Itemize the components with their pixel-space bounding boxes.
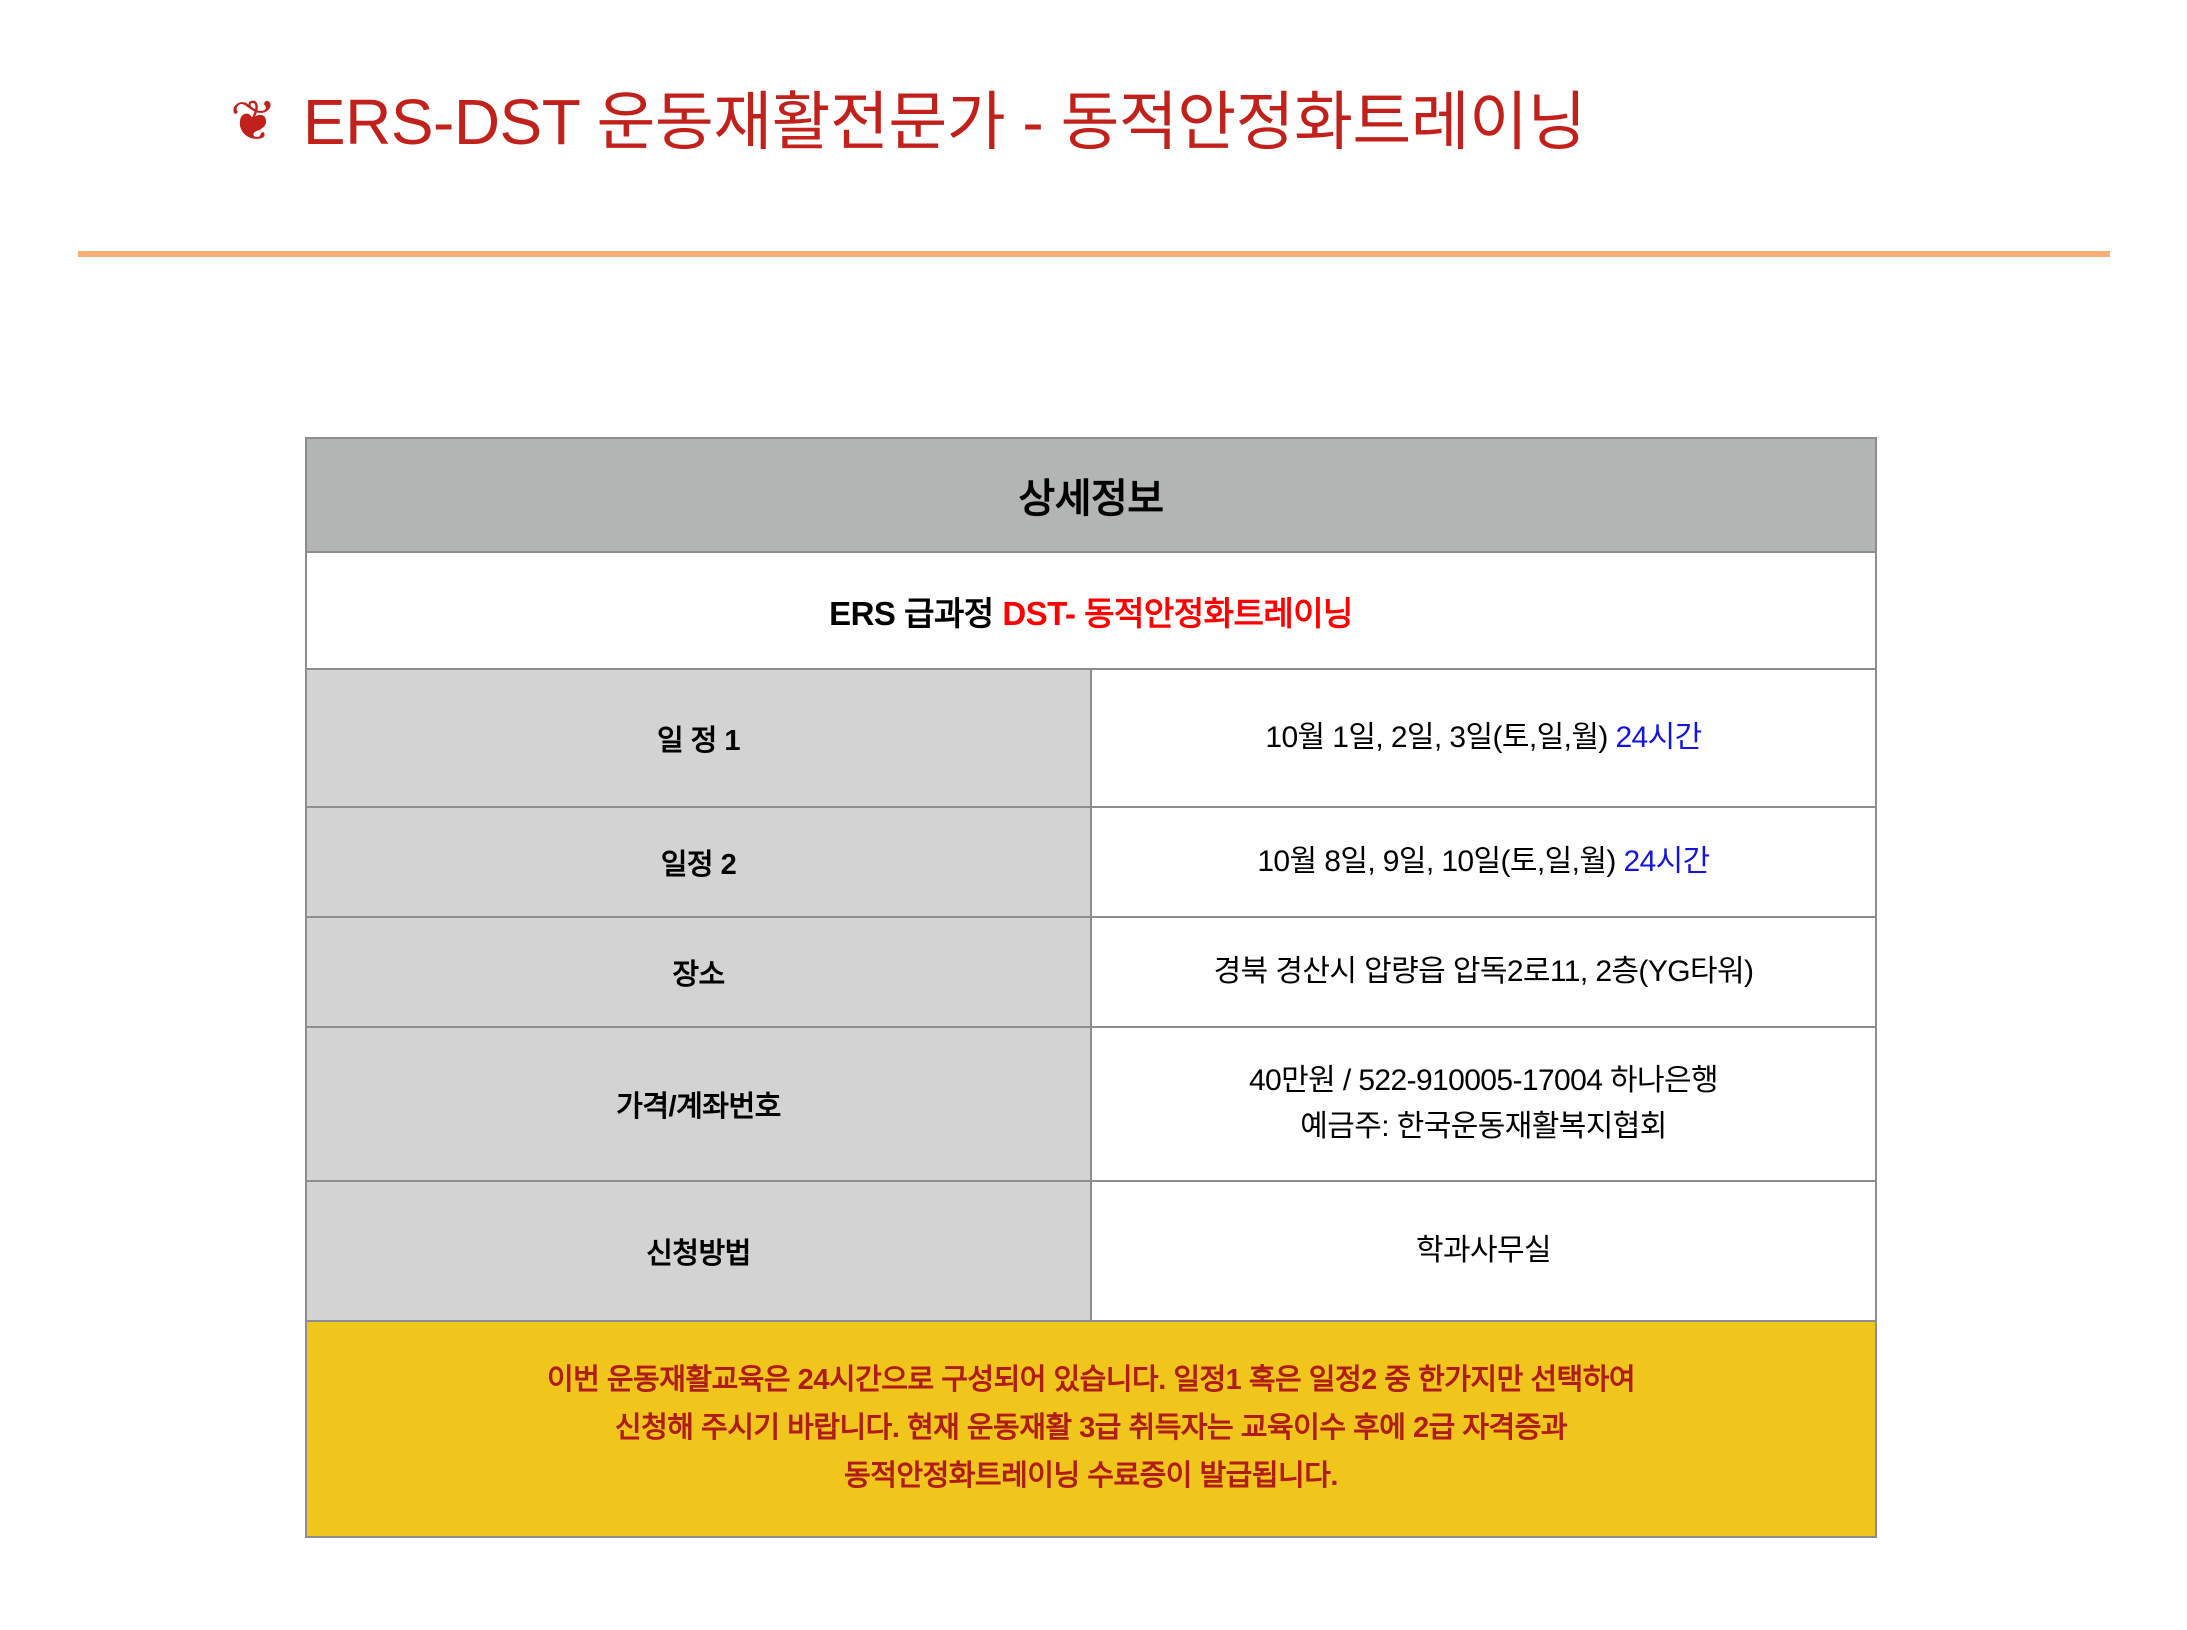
row-value-text: 학과사무실 bbox=[1092, 1228, 1875, 1275]
row-label-price-account: 가격/계좌번호 bbox=[306, 1027, 1091, 1181]
course-title-black: ERS 급과정 bbox=[829, 595, 1002, 632]
clover-icon: ❦ bbox=[230, 93, 277, 149]
course-title-text: ERS 급과정 DST- 동적안정화트레이닝 bbox=[307, 587, 1875, 635]
page-title: ❦ ERS-DST 운동재활전문가 - 동적안정화트레이닝 bbox=[230, 78, 1980, 168]
table-header-cell: 상세정보 bbox=[306, 438, 1876, 552]
row-value-text: 10월 1일, 2일, 3일(토,일,월) 24시간 bbox=[1092, 715, 1875, 762]
notice-line-1: 이번 운동재활교육은 24시간으로 구성되어 있습니다. 일정1 혹은 일정2 … bbox=[307, 1357, 1875, 1405]
notice-row: 이번 운동재활교육은 24시간으로 구성되어 있습니다. 일정1 혹은 일정2 … bbox=[306, 1321, 1876, 1537]
table-row: 신청방법 학과사무실 bbox=[306, 1181, 1876, 1321]
row-value-line-2: 예금주: 한국운동재활복지협회 bbox=[1092, 1104, 1875, 1151]
row-value-text: 경북 경산시 압량읍 압독2로11, 2층(YG타워) bbox=[1092, 949, 1875, 996]
table-header-label: 상세정보 bbox=[307, 466, 1875, 524]
row-value-main: 10월 8일, 9일, 10일(토,일,월) bbox=[1257, 845, 1623, 878]
row-value-text: 10월 8일, 9일, 10일(토,일,월) 24시간 bbox=[1092, 839, 1875, 886]
row-value-main: 10월 1일, 2일, 3일(토,일,월) bbox=[1265, 721, 1615, 754]
row-label-text: 장소 bbox=[307, 951, 1090, 993]
row-value-price-account: 40만원 / 522-910005-17004 하나은행 예금주: 한국운동재활… bbox=[1091, 1027, 1876, 1181]
row-label-text: 일정 2 bbox=[307, 841, 1090, 883]
row-value-accent: 24시간 bbox=[1624, 845, 1710, 878]
row-value-schedule-2: 10월 8일, 9일, 10일(토,일,월) 24시간 bbox=[1091, 807, 1876, 917]
notice-line-3: 동적안정화트레이닝 수료증이 발급됩니다. bbox=[307, 1453, 1875, 1501]
page-title-text: ERS-DST 운동재활전문가 - 동적안정화트레이닝 bbox=[303, 89, 1586, 156]
row-label-schedule-1: 일 정 1 bbox=[306, 669, 1091, 807]
row-value-application-method: 학과사무실 bbox=[1091, 1181, 1876, 1321]
course-title-row: ERS 급과정 DST- 동적안정화트레이닝 bbox=[306, 552, 1876, 669]
row-label-application-method: 신청방법 bbox=[306, 1181, 1091, 1321]
row-value-accent: 24시간 bbox=[1615, 721, 1701, 754]
row-label-location: 장소 bbox=[306, 917, 1091, 1027]
row-label-schedule-2: 일정 2 bbox=[306, 807, 1091, 917]
notice-cell: 이번 운동재활교육은 24시간으로 구성되어 있습니다. 일정1 혹은 일정2 … bbox=[306, 1321, 1876, 1537]
notice-line-2: 신청해 주시기 바랍니다. 현재 운동재활 3급 취득자는 교육이수 후에 2급… bbox=[307, 1405, 1875, 1453]
row-label-text: 일 정 1 bbox=[307, 717, 1090, 759]
table-row: 일 정 1 10월 1일, 2일, 3일(토,일,월) 24시간 bbox=[306, 669, 1876, 807]
course-title-cell: ERS 급과정 DST- 동적안정화트레이닝 bbox=[306, 552, 1876, 669]
table-header-row: 상세정보 bbox=[306, 438, 1876, 552]
course-title-red: DST- 동적안정화트레이닝 bbox=[1002, 595, 1353, 632]
row-value-schedule-1: 10월 1일, 2일, 3일(토,일,월) 24시간 bbox=[1091, 669, 1876, 807]
row-value-location: 경북 경산시 압량읍 압독2로11, 2층(YG타워) bbox=[1091, 917, 1876, 1027]
row-value-line-1: 40만원 / 522-910005-17004 하나은행 bbox=[1092, 1058, 1875, 1105]
table-row: 일정 2 10월 8일, 9일, 10일(토,일,월) 24시간 bbox=[306, 807, 1876, 917]
table-row: 가격/계좌번호 40만원 / 522-910005-17004 하나은행 예금주… bbox=[306, 1027, 1876, 1181]
table-row: 장소 경북 경산시 압량읍 압독2로11, 2층(YG타워) bbox=[306, 917, 1876, 1027]
title-divider bbox=[78, 251, 2110, 257]
row-label-text: 가격/계좌번호 bbox=[307, 1083, 1090, 1125]
row-label-text: 신청방법 bbox=[307, 1230, 1090, 1272]
course-detail-table: 상세정보 ERS 급과정 DST- 동적안정화트레이닝 일 정 1 10월 1일… bbox=[305, 437, 1877, 1538]
